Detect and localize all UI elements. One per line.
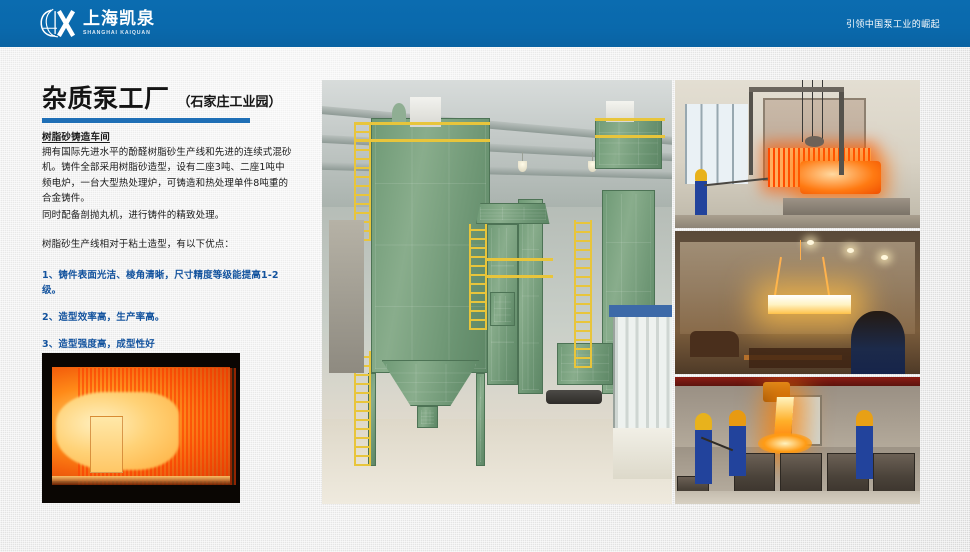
air-duct-pipe <box>546 390 602 405</box>
silo-discharge-valve <box>417 406 438 427</box>
crane-hoist-line <box>800 240 802 260</box>
page-title: 杂质泵工厂 <box>42 86 170 111</box>
overhead-crane-beam <box>675 377 920 386</box>
office-glass-partition <box>613 313 673 432</box>
section-heading: 树脂砂铸造车间 <box>42 129 294 143</box>
advantages-intro-line: 树脂砂生产线相对于粘土造型，有以下优点： <box>42 237 294 252</box>
kaiquan-logo-icon <box>38 7 76 40</box>
right-platform-unit <box>595 118 662 169</box>
office-wall-base <box>613 428 673 479</box>
worker-uniform <box>856 426 873 478</box>
workshop-floor <box>675 215 920 228</box>
mixer-column <box>518 199 543 394</box>
molten-metal-pouring-photo <box>675 377 920 504</box>
left-column <box>329 220 364 373</box>
ceiling-lamp <box>807 240 814 245</box>
safety-ladder-cage <box>469 224 487 330</box>
safety-ladder-cage <box>574 220 592 368</box>
furnace-door-frame <box>839 89 844 175</box>
worker-figure[interactable] <box>729 410 746 476</box>
hardhat-icon <box>729 410 746 427</box>
conveyor-bridge <box>476 203 550 224</box>
platform-handrail <box>487 275 554 278</box>
list-item: 3、造型强度高，成型性好 <box>42 338 294 352</box>
foundry-floor <box>675 491 920 504</box>
resin-sand-line-photo <box>322 80 672 504</box>
worker-figure[interactable] <box>695 169 707 219</box>
platform-handrail <box>487 258 554 261</box>
page-header: 上海凯泉 SHANGHAI KAIQUAN 引领中国泵工业的崛起 <box>0 0 970 47</box>
description-paragraph-2: 同时配备剖抛丸机，进行铸件的精致处理。 <box>42 208 294 223</box>
page-subtitle: （石家庄工业园） <box>178 91 282 111</box>
furnace-inner-fixture <box>90 416 124 473</box>
mold-boxes-row <box>749 348 857 368</box>
brand-name-en: SHANGHAI KAIQUAN <box>83 31 155 36</box>
partition-top-trim <box>609 305 672 318</box>
white-hot-workpiece <box>768 295 851 314</box>
page-title-row: 杂质泵工厂 （石家庄工业园） <box>42 86 282 111</box>
worker-uniform <box>695 181 707 219</box>
sand-hopper <box>490 292 515 326</box>
casting-pile <box>690 331 739 357</box>
list-item: 1、铸件表面光洁、棱角清晰，尺寸精度等级能提高1-2级。 <box>42 269 294 298</box>
hardhat-icon <box>695 413 712 431</box>
page-title-block: 杂质泵工厂 （石家庄工业园） <box>42 86 282 123</box>
platform-handrail <box>354 122 491 125</box>
brand-logo[interactable]: 上海凯泉 SHANGHAI KAIQUAN <box>38 7 155 40</box>
platform-handrail <box>595 135 665 138</box>
ceiling-lamp <box>847 248 854 253</box>
hardhat-icon <box>856 410 873 428</box>
silo-support-leg <box>476 373 485 466</box>
dust-outlet <box>392 103 406 124</box>
heat-treatment-furnace-photo <box>675 80 920 228</box>
platform-handrail <box>354 139 491 142</box>
mold-box <box>873 453 915 496</box>
crane-lifting-glowing-billet-photo <box>675 231 920 374</box>
furnace-lintel <box>749 87 845 91</box>
platform-handrail <box>595 118 665 121</box>
furnace-interior-photo <box>42 353 240 503</box>
brand-name-cn: 上海凯泉 <box>83 11 155 28</box>
foreground-worker-silhouette <box>851 311 905 374</box>
ceiling-lamp <box>518 161 527 172</box>
worker-figure[interactable] <box>856 410 873 479</box>
worker-figure[interactable] <box>695 413 712 484</box>
furnace-door-frame <box>749 89 754 175</box>
slide-canvas: 上海凯泉 SHANGHAI KAIQUAN 引领中国泵工业的崛起 杂质泵工厂 （… <box>0 0 970 552</box>
description-paragraph-1: 拥有国际先进水平的酚醛树脂砂生产线和先进的连续式混砂机。铸件全部采用树脂砂造型，… <box>42 145 294 207</box>
mold-box <box>780 453 822 496</box>
crane-hook-block <box>805 136 825 146</box>
list-item: 2、造型效率高，生产率高。 <box>42 311 294 325</box>
header-slogan: 引领中国泵工业的崛起 <box>846 17 940 30</box>
furnace-hearth <box>52 476 230 485</box>
title-underline-rule <box>42 118 250 123</box>
